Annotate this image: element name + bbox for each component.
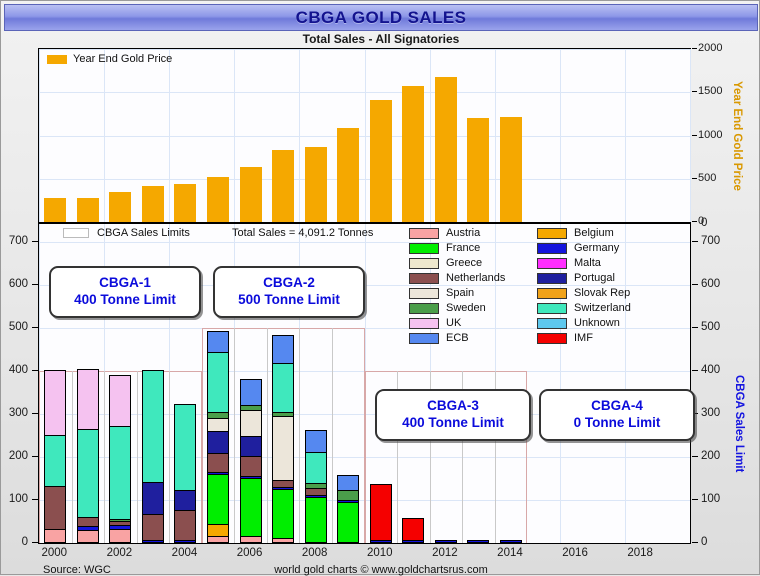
legend-label: IMF bbox=[574, 332, 593, 344]
legend-label: Netherlands bbox=[446, 272, 505, 284]
legend-swatch bbox=[537, 273, 567, 284]
stacked-bar bbox=[467, 541, 489, 543]
legend-item-portugal[interactable]: Portugal bbox=[537, 272, 667, 284]
gold-price-bar bbox=[305, 147, 327, 222]
stacked-bar-segment bbox=[240, 436, 262, 456]
legend-item-netherlands[interactable]: Netherlands bbox=[409, 272, 529, 284]
legend-item-imf[interactable]: IMF bbox=[537, 332, 667, 344]
left-axis-tick-label: 400 bbox=[9, 364, 28, 376]
right-axis-tick-label: 700 bbox=[701, 235, 720, 247]
stacked-bar-segment bbox=[207, 474, 229, 524]
x-axis-tick-label: 2010 bbox=[367, 547, 393, 559]
legend-swatch bbox=[537, 333, 567, 344]
gold-price-legend-label: Year End Gold Price bbox=[73, 53, 172, 65]
stacked-bar bbox=[337, 476, 359, 543]
left-axis-tick-label: 0 bbox=[22, 536, 28, 548]
chart-window: CBGA GOLD SALES Total Sales - All Signat… bbox=[0, 0, 760, 575]
gold-price-bar bbox=[272, 150, 294, 222]
cbga-box-name: CBGA-3 bbox=[427, 398, 479, 415]
left-axis-tick-label: 500 bbox=[9, 321, 28, 333]
legend-item-switzerland[interactable]: Switzerland bbox=[537, 302, 667, 314]
left-axis-tick-label: 300 bbox=[9, 407, 28, 419]
stacked-bar-segment bbox=[305, 430, 327, 453]
stacked-bar-segment bbox=[44, 435, 66, 488]
gold-price-bars bbox=[39, 49, 690, 222]
stacked-bar-segment bbox=[500, 540, 522, 543]
cbga-box-name: CBGA-1 bbox=[99, 275, 151, 292]
left-axis-tick-label: 200 bbox=[9, 450, 28, 462]
legend-swatch bbox=[537, 258, 567, 269]
stacked-bar-segment bbox=[402, 518, 424, 542]
right-axis-tick bbox=[692, 542, 698, 543]
cbga-agreement-box-4: CBGA-40 Tonne Limit bbox=[539, 389, 695, 441]
stacked-bar bbox=[44, 371, 66, 543]
legend-swatch bbox=[409, 228, 439, 239]
gold-axis-tick-label: 2000 bbox=[698, 42, 722, 54]
stacked-bar-segment bbox=[305, 452, 327, 484]
window-title: CBGA GOLD SALES bbox=[296, 8, 467, 28]
stacked-bar-segment bbox=[240, 410, 262, 438]
left-axis-tick bbox=[32, 542, 38, 543]
legend-swatch bbox=[537, 228, 567, 239]
legend-item-unknown[interactable]: Unknown bbox=[537, 317, 667, 329]
stacked-bar bbox=[207, 332, 229, 543]
gold-price-legend: Year End Gold Price bbox=[47, 53, 172, 65]
stacked-bar-segment bbox=[207, 524, 229, 538]
stacked-bar-segment bbox=[337, 475, 359, 491]
window-title-bar: CBGA GOLD SALES bbox=[4, 4, 758, 31]
sales-limits-swatch bbox=[63, 228, 89, 238]
stacked-bar-segment bbox=[109, 375, 131, 428]
left-axis-tick bbox=[32, 370, 38, 371]
right-axis-tick-label: 0 bbox=[701, 536, 707, 548]
stacked-bar-segment bbox=[77, 530, 99, 543]
gold-price-bar bbox=[44, 198, 66, 222]
stacked-bar-segment bbox=[207, 412, 229, 419]
stacked-bar bbox=[77, 370, 99, 543]
country-legend: AustriaBelgiumFranceGermanyGreeceMaltaNe… bbox=[409, 227, 671, 344]
x-axis-tick-label: 2014 bbox=[497, 547, 523, 559]
x-axis-tick-label: 2000 bbox=[41, 547, 67, 559]
gold-price-axis-title: Year End Gold Price bbox=[725, 61, 743, 211]
stacked-bar-segment bbox=[207, 431, 229, 454]
legend-item-spain[interactable]: Spain bbox=[409, 287, 529, 299]
stacked-bar-segment bbox=[44, 370, 66, 436]
x-axis-tick-label: 2018 bbox=[627, 547, 653, 559]
right-axis-tick-label: 500 bbox=[701, 321, 720, 333]
right-axis-tick bbox=[692, 370, 698, 371]
legend-swatch bbox=[409, 258, 439, 269]
legend-label: Malta bbox=[574, 257, 601, 269]
legend-item-malta[interactable]: Malta bbox=[537, 257, 667, 269]
gold-price-bar bbox=[240, 167, 262, 222]
left-axis-tick-label: 700 bbox=[9, 235, 28, 247]
right-axis-tick-label: 600 bbox=[701, 278, 720, 290]
stacked-bar-segment bbox=[109, 529, 131, 543]
legend-item-sweden[interactable]: Sweden bbox=[409, 302, 529, 314]
gold-axis-tick-label: 1000 bbox=[698, 129, 722, 141]
stacked-bar-segment bbox=[174, 404, 196, 491]
cbga-agreement-box-3: CBGA-3400 Tonne Limit bbox=[375, 389, 531, 441]
stacked-bar-segment bbox=[272, 489, 294, 539]
stacked-bar-segment bbox=[207, 352, 229, 413]
stacked-bar-segment bbox=[142, 370, 164, 483]
credit-label: world gold charts © www.goldchartsrus.co… bbox=[1, 564, 760, 576]
right-axis-tick-label: 300 bbox=[701, 407, 720, 419]
right-axis-tick bbox=[692, 327, 698, 328]
stacked-bar-segment bbox=[467, 540, 489, 543]
stacked-bar-segment bbox=[174, 490, 196, 510]
right-axis-tick bbox=[692, 499, 698, 500]
left-axis-tick bbox=[32, 327, 38, 328]
cbga-limit-axis-title: CBGA Sales Limit bbox=[727, 331, 745, 516]
stacked-bar-segment bbox=[44, 486, 66, 530]
stacked-bar bbox=[305, 431, 327, 543]
stacked-bar-segment bbox=[272, 363, 294, 413]
stacked-bar-segment bbox=[240, 536, 262, 543]
legend-label: Slovak Rep bbox=[574, 287, 630, 299]
gold-axis-tick bbox=[692, 178, 697, 179]
stacked-bar bbox=[272, 336, 294, 543]
gold-price-bar bbox=[174, 184, 196, 222]
left-tonnes-axis: 0100200300400500600700 bbox=[1, 223, 38, 544]
legend-label: UK bbox=[446, 317, 461, 329]
legend-item-germany[interactable]: Germany bbox=[537, 242, 667, 254]
legend-label: Unknown bbox=[574, 317, 620, 329]
x-axis-tick-label: 2006 bbox=[237, 547, 263, 559]
gold-price-plot: Year End Gold Price bbox=[38, 48, 691, 223]
cbga-box-limit: 500 Tonne Limit bbox=[238, 292, 340, 309]
right-axis-zero-top: 0 bbox=[701, 217, 707, 229]
legend-label: Germany bbox=[574, 242, 619, 254]
cbga-box-name: CBGA-2 bbox=[263, 275, 315, 292]
stacked-bar bbox=[174, 405, 196, 543]
gold-axis-tick-label: 1500 bbox=[698, 85, 722, 97]
x-axis-tick-label: 2004 bbox=[172, 547, 198, 559]
stacked-bar-segment bbox=[142, 514, 164, 541]
legend-swatch bbox=[537, 243, 567, 254]
gold-price-bar bbox=[402, 86, 424, 222]
stacked-bar-segment bbox=[44, 529, 66, 543]
x-axis-tick-label: 2002 bbox=[107, 547, 133, 559]
gold-axis-tick bbox=[692, 135, 697, 136]
gold-price-bar bbox=[500, 117, 522, 222]
legend-item-belgium[interactable]: Belgium bbox=[537, 227, 667, 239]
gold-axis-tick bbox=[692, 48, 697, 49]
legend-swatch bbox=[537, 303, 567, 314]
stacked-bar bbox=[402, 519, 424, 544]
gold-axis-tick-label: 500 bbox=[698, 172, 716, 184]
stacked-bar-segment bbox=[272, 335, 294, 364]
cbga-agreement-box-2: CBGA-2500 Tonne Limit bbox=[213, 266, 365, 318]
gold-price-bar bbox=[207, 177, 229, 222]
stacked-bar-segment bbox=[142, 482, 164, 515]
legend-item-france[interactable]: France bbox=[409, 242, 529, 254]
legend-label: Greece bbox=[446, 257, 482, 269]
legend-label: Sweden bbox=[446, 302, 486, 314]
legend-swatch bbox=[409, 288, 439, 299]
legend-label: Spain bbox=[446, 287, 474, 299]
right-axis-tick-label: 100 bbox=[701, 493, 720, 505]
stacked-bar-segment bbox=[207, 418, 229, 432]
stacked-bar-segment bbox=[240, 379, 262, 406]
stacked-bar-segment bbox=[337, 490, 359, 500]
gold-gridline-v bbox=[690, 49, 691, 222]
left-axis-tick bbox=[32, 499, 38, 500]
stacked-bar-segment bbox=[240, 456, 262, 477]
stacked-bar-segment bbox=[77, 429, 99, 518]
stacked-bar-segment bbox=[435, 540, 457, 543]
stacked-bar-segment bbox=[272, 480, 294, 487]
chart-subtitle: Total Sales - All Signatories bbox=[1, 32, 760, 48]
gold-price-bar bbox=[467, 118, 489, 222]
stacked-bar bbox=[500, 541, 522, 543]
cbga-box-name: CBGA-4 bbox=[591, 398, 643, 415]
stacked-bar-segment bbox=[370, 484, 392, 541]
stacked-bar-segment bbox=[207, 453, 229, 473]
x-axis-labels: 2000200220042006200820102012201420162018 bbox=[38, 547, 691, 563]
cbga-box-limit: 0 Tonne Limit bbox=[574, 415, 661, 432]
legend-swatch bbox=[409, 333, 439, 344]
legend-label: Switzerland bbox=[574, 302, 631, 314]
x-axis-tick-label: 2008 bbox=[302, 547, 328, 559]
legend-swatch bbox=[409, 303, 439, 314]
left-axis-tick bbox=[32, 241, 38, 242]
legend-label: France bbox=[446, 242, 480, 254]
x-axis-tick-label: 2012 bbox=[432, 547, 458, 559]
right-axis-tick bbox=[692, 284, 698, 285]
right-axis-tick-label: 400 bbox=[701, 364, 720, 376]
left-axis-tick-label: 600 bbox=[9, 278, 28, 290]
total-sales-annotation: Total Sales = 4,091.2 Tonnes bbox=[232, 227, 373, 239]
gold-price-bar bbox=[109, 192, 131, 222]
legend-label: ECB bbox=[446, 332, 469, 344]
stacked-bar bbox=[370, 485, 392, 543]
legend-label: Portugal bbox=[574, 272, 615, 284]
stacked-bar-segment bbox=[174, 510, 196, 541]
stacked-bar-segment bbox=[272, 416, 294, 481]
gold-price-bar bbox=[337, 128, 359, 222]
stacked-bar-segment bbox=[207, 331, 229, 352]
sales-limits-legend: CBGA Sales Limits bbox=[63, 227, 190, 239]
legend-item-uk[interactable]: UK bbox=[409, 317, 529, 329]
legend-swatch bbox=[537, 318, 567, 329]
legend-swatch bbox=[409, 243, 439, 254]
gold-price-bar bbox=[435, 77, 457, 222]
right-axis-tick bbox=[692, 241, 698, 242]
cbga-box-limit: 400 Tonne Limit bbox=[74, 292, 176, 309]
gold-axis-tick bbox=[692, 221, 697, 222]
gold-price-bar bbox=[77, 198, 99, 222]
gold-price-bar bbox=[142, 186, 164, 222]
gold-axis-tick bbox=[692, 91, 697, 92]
sales-limits-label: CBGA Sales Limits bbox=[97, 227, 190, 239]
stacked-bar-segment bbox=[337, 502, 359, 543]
gold-price-legend-swatch bbox=[47, 55, 67, 64]
cbga-box-limit: 400 Tonne Limit bbox=[402, 415, 504, 432]
cbga-agreement-box-1: CBGA-1400 Tonne Limit bbox=[49, 266, 201, 318]
legend-item-austria[interactable]: Austria bbox=[409, 227, 529, 239]
right-axis-tick-label: 200 bbox=[701, 450, 720, 462]
legend-swatch bbox=[409, 318, 439, 329]
stacked-bar-segment bbox=[240, 478, 262, 537]
stacked-bar-segment bbox=[305, 488, 327, 495]
gold-price-bar bbox=[370, 100, 392, 222]
legend-swatch bbox=[537, 288, 567, 299]
left-axis-tick bbox=[32, 456, 38, 457]
left-axis-tick-label: 100 bbox=[9, 493, 28, 505]
stacked-bar-segment bbox=[305, 497, 327, 543]
stacked-bar-segment bbox=[77, 369, 99, 430]
stacked-bar bbox=[435, 541, 457, 543]
x-axis-tick-label: 2016 bbox=[562, 547, 588, 559]
stacked-bar bbox=[109, 376, 131, 543]
legend-item-slovak-rep[interactable]: Slovak Rep bbox=[537, 287, 667, 299]
left-axis-tick bbox=[32, 413, 38, 414]
right-axis-tick bbox=[692, 456, 698, 457]
legend-swatch bbox=[409, 273, 439, 284]
stacked-bar-segment bbox=[77, 517, 99, 527]
left-axis-tick bbox=[32, 284, 38, 285]
legend-item-greece[interactable]: Greece bbox=[409, 257, 529, 269]
stacked-bar bbox=[240, 380, 262, 543]
legend-label: Austria bbox=[446, 227, 480, 239]
legend-label: Belgium bbox=[574, 227, 614, 239]
legend-item-ecb[interactable]: ECB bbox=[409, 332, 529, 344]
stacked-bar-segment bbox=[109, 426, 131, 519]
stacked-bar bbox=[142, 371, 164, 543]
